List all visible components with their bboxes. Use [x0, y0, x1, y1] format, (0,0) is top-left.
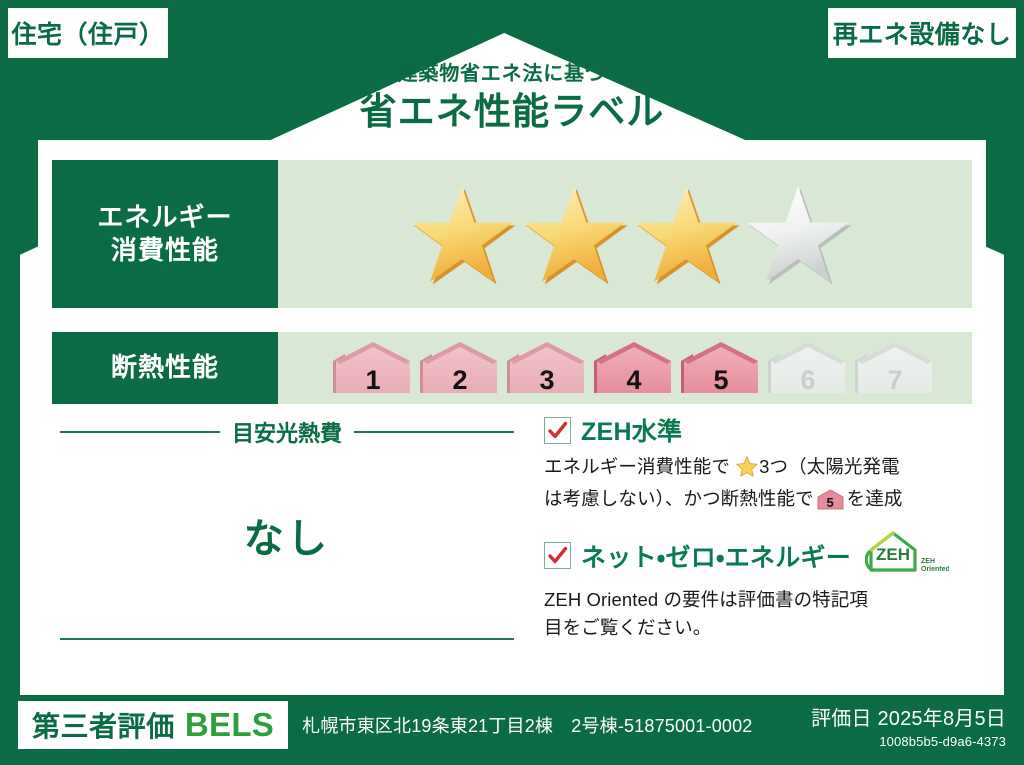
inline-grade-number: 5 — [817, 496, 844, 509]
net-zero-description: ZEH Oriented の要件は評価書の特記項 目をご覧ください。 — [544, 586, 972, 642]
badge-renewable-equipment-label: 再エネ設備なし — [833, 15, 1012, 51]
energy-performance-row: エネルギー 消費性能 — [52, 160, 972, 308]
insulation-grade-7: 7 — [853, 339, 937, 397]
insulation-grade-3: 3 — [505, 339, 589, 397]
bels-logo-en: BELS — [185, 706, 274, 744]
energy-performance-body — [278, 160, 972, 308]
badge-renewable-equipment: 再エネ設備なし — [828, 8, 1016, 58]
zeh-logo-caption-2: Oriented — [921, 566, 949, 573]
zeh-standard-header: ZEH水準 — [544, 412, 972, 448]
insulation-grade-6: 6 — [766, 339, 850, 397]
evaluation-id: 1008b5b5-d9a6-4373 — [811, 734, 1006, 749]
star-rating — [406, 182, 854, 286]
zeh-standard-title: ZEH水準 — [581, 412, 682, 448]
zeh-standard-section: ZEH水準 エネルギー消費性能で 3つ（太陽光発電 は考慮しない）、かつ断熱性能… — [544, 412, 972, 513]
rule-left — [60, 431, 220, 433]
rule-right — [354, 431, 514, 433]
zeh-standard-description: エネルギー消費性能で 3つ（太陽光発電 は考慮しない）、かつ断熱性能で 5 を達… — [544, 453, 972, 513]
insulation-performance-label-text: 断熱性能 — [111, 351, 219, 384]
evaluation-date: 評価日 2025年8月5日 — [811, 702, 1006, 731]
net-zero-header: ネット・ゼロ・エネルギー ZEH ZEH Oriented — [544, 530, 972, 581]
insulation-grade-number: 6 — [766, 367, 850, 394]
insulation-grade-number: 2 — [418, 367, 502, 394]
net-zero-desc-line2: 目をご覧ください。 — [544, 617, 711, 638]
insulation-grade-5: 5 — [679, 339, 763, 397]
insulation-performance-body: 1234567 — [278, 332, 972, 404]
bels-logo: 第三者評価 BELS — [18, 701, 288, 749]
utility-cost-panel: 目安光熱費 なし — [52, 412, 522, 662]
star-icon-filled — [406, 182, 518, 286]
footer-bar: 第三者評価 BELS 札幌市東区北19条東21丁目2棟 2号棟-51875001… — [0, 685, 1024, 765]
star-icon-filled — [518, 182, 630, 286]
utility-cost-bottom-rule — [60, 638, 514, 640]
lower-section: 目安光熱費 なし ZEH水準 エネルギー消費性能で — [52, 412, 972, 662]
star-icon-empty — [742, 182, 854, 286]
insulation-performance-row: 断熱性能 1234567 — [52, 332, 972, 404]
zeh-logo-text: ZEH — [876, 545, 910, 564]
bels-logo-jp: 第三者評価 — [32, 705, 175, 745]
net-zero-desc-line1: ZEH Oriented の要件は評価書の特記項 — [544, 589, 868, 610]
zeh-panel: ZEH水準 エネルギー消費性能で 3つ（太陽光発電 は考慮しない）、かつ断熱性能… — [522, 412, 972, 662]
star-icon-filled — [630, 182, 742, 286]
net-zero-section: ネット・ゼロ・エネルギー ZEH ZEH Oriented ZEH Ori — [544, 530, 972, 642]
energy-performance-label: エネルギー 消費性能 — [52, 160, 278, 308]
energy-performance-label-line2: 消費性能 — [111, 234, 219, 267]
zeh-logo-caption-1: ZEH — [921, 558, 935, 565]
zeh-desc-part1: エネルギー消費性能で — [544, 456, 730, 477]
badge-building-type-label: 住宅（住戸） — [11, 15, 164, 51]
energy-label-root: 住宅（住戸） 再エネ設備なし 建築物省エネ法に基づく 省エネ性能ラベル エネルギ… — [0, 0, 1024, 765]
insulation-grade-number: 1 — [331, 367, 415, 394]
insulation-grade-1: 1 — [331, 339, 415, 397]
insulation-grade-number: 4 — [592, 367, 676, 394]
insulation-performance-label: 断熱性能 — [52, 332, 278, 404]
zeh-desc-line2-part1: は考慮しない）、かつ断熱性能で — [544, 488, 814, 509]
energy-performance-label-line1: エネルギー — [97, 201, 232, 234]
zeh-desc-part2: 3つ（太陽光発電 — [759, 456, 900, 477]
utility-cost-heading-text: 目安光熱費 — [232, 416, 342, 448]
insulation-grade-2: 2 — [418, 339, 502, 397]
insulation-grade-scale: 1234567 — [331, 339, 937, 397]
check-icon — [544, 542, 571, 569]
footer-address: 札幌市東区北19条東21丁目2棟 2号棟-51875001-0002 — [302, 712, 752, 738]
insulation-grade-number: 5 — [679, 367, 763, 394]
insulation-grade-number: 3 — [505, 367, 589, 394]
insulation-grade-4: 4 — [592, 339, 676, 397]
net-zero-title: ネット・ゼロ・エネルギー — [581, 538, 851, 574]
badge-building-type: 住宅（住戸） — [8, 8, 168, 58]
check-icon — [544, 417, 571, 444]
zeh-desc-line2-part2: を達成 — [847, 488, 903, 509]
zeh-oriented-logo: ZEH ZEH Oriented — [865, 530, 949, 581]
inline-grade-badge: 5 — [817, 489, 844, 510]
footer-meta: 評価日 2025年8月5日 1008b5b5-d9a6-4373 — [811, 702, 1006, 749]
utility-cost-value: なし — [52, 506, 522, 564]
star-icon — [731, 460, 758, 481]
utility-cost-heading: 目安光熱費 — [52, 416, 522, 448]
insulation-grade-number: 7 — [853, 367, 937, 394]
